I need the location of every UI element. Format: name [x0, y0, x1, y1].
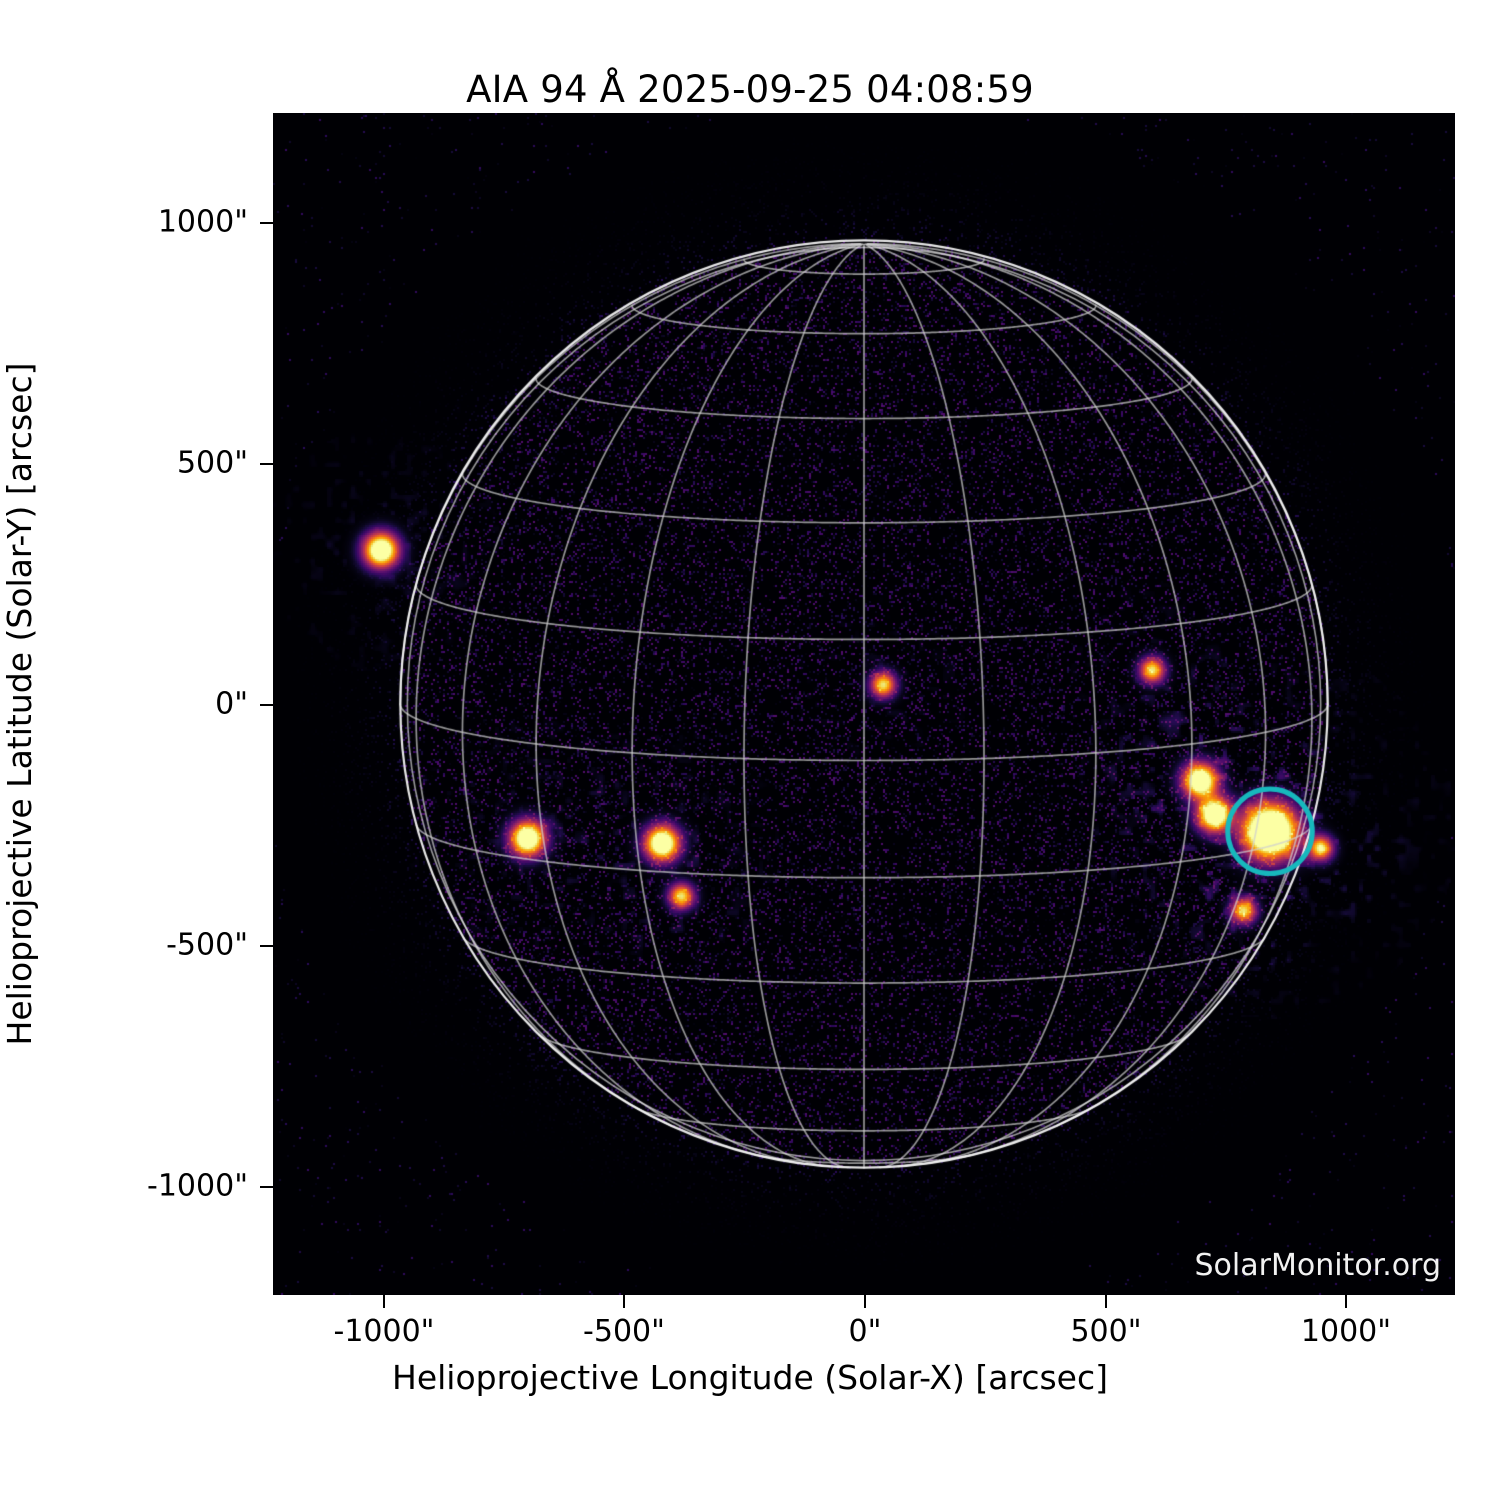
x-tick-mark [1105, 1295, 1107, 1308]
x-tick-label: 0" [849, 1314, 882, 1349]
y-tick-label: 1000" [158, 205, 248, 240]
x-tick-label: -500" [583, 1314, 665, 1349]
y-tick-mark [260, 463, 273, 465]
y-tick-mark [260, 1186, 273, 1188]
watermark-label: SolarMonitor.org [1195, 1248, 1441, 1283]
y-tick-label: 500" [177, 446, 248, 481]
y-axis-title: Helioprojective Latitude (Solar-Y) [arcs… [0, 113, 40, 1295]
solar-disk-image[interactable] [273, 113, 1455, 1295]
x-tick-label: -1000" [334, 1314, 435, 1349]
y-tick-mark [260, 222, 273, 224]
y-tick-label: 0" [215, 687, 248, 722]
x-tick-mark [383, 1295, 385, 1308]
y-tick-mark [260, 704, 273, 706]
x-tick-mark [864, 1295, 866, 1308]
y-tick-label: -500" [166, 928, 248, 963]
x-tick-mark [623, 1295, 625, 1308]
x-axis-title: Helioprojective Longitude (Solar-X) [arc… [0, 1358, 1500, 1397]
solar-image-figure: AIA 94 Å 2025-09-25 04:08:59 SolarMonito… [0, 0, 1500, 1500]
x-tick-label: 500" [1070, 1314, 1141, 1349]
page-title: AIA 94 Å 2025-09-25 04:08:59 [0, 68, 1500, 111]
x-tick-mark [1345, 1295, 1347, 1308]
y-tick-label: -1000" [147, 1169, 248, 1204]
y-tick-mark [260, 945, 273, 947]
x-tick-label: 1000" [1301, 1314, 1391, 1349]
plot-area[interactable]: SolarMonitor.org [273, 113, 1455, 1295]
